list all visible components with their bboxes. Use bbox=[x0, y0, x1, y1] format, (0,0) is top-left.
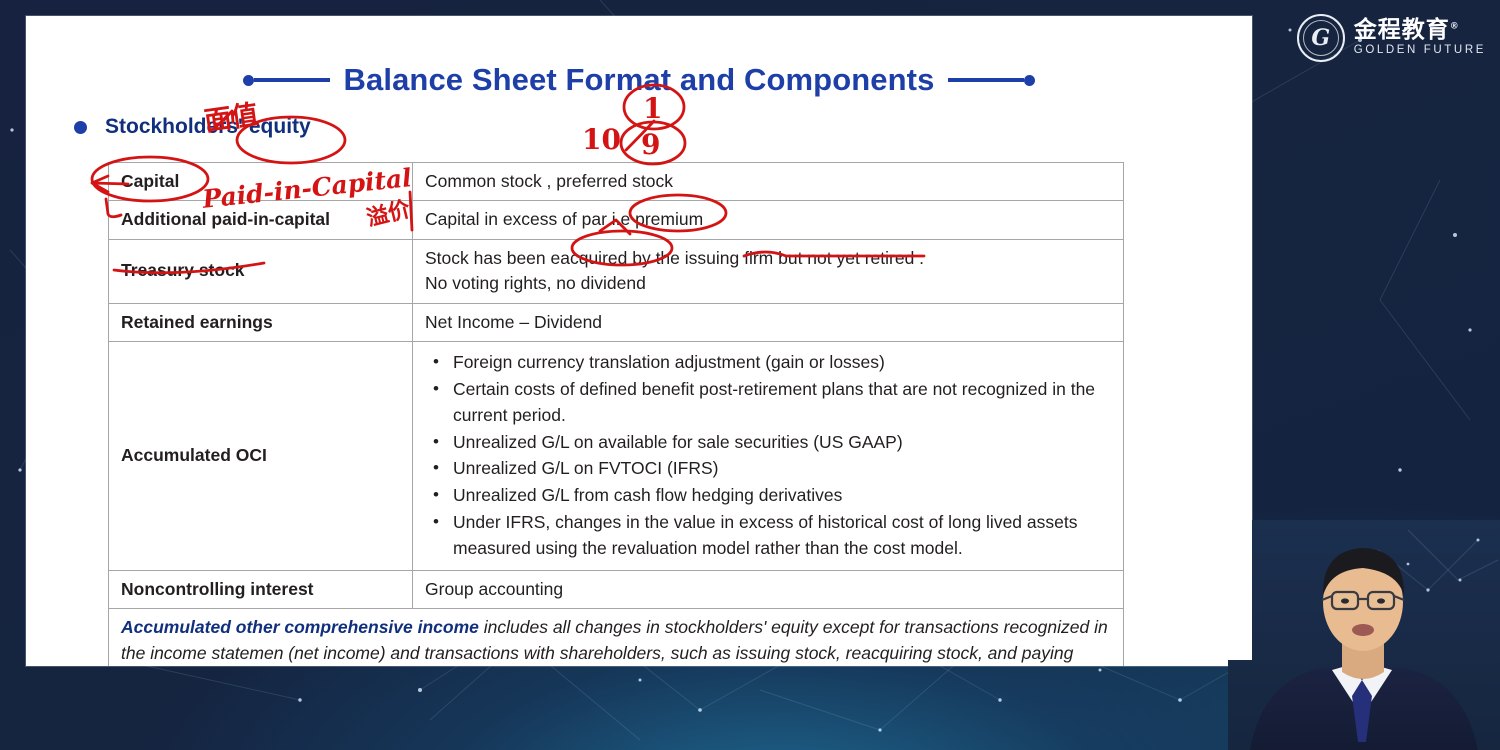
table-row: Accumulated other comprehensive income i… bbox=[109, 609, 1124, 666]
title-rule-right bbox=[948, 75, 1035, 86]
row-label-capital: Capital bbox=[109, 163, 413, 201]
table-row: Accumulated OCI Foreign currency transla… bbox=[109, 341, 1124, 570]
row-label-noncontrolling-interest: Noncontrolling interest bbox=[109, 571, 413, 609]
table-row: Treasury stock Stock has been eacquired … bbox=[109, 239, 1124, 303]
section-heading-label: Stockholders' equity bbox=[105, 115, 311, 139]
title-dot-left-icon bbox=[243, 75, 254, 86]
logo-name-en: GOLDEN FUTURE bbox=[1354, 42, 1486, 58]
table-row: Retained earnings Net Income – Dividend bbox=[109, 303, 1124, 341]
registered-mark-icon: ® bbox=[1450, 21, 1460, 31]
list-item: Foreign currency translation adjustment … bbox=[425, 350, 1111, 376]
list-item: Under IFRS, changes in the value in exce… bbox=[425, 510, 1111, 562]
row-value-additional-paid-in-capital: Capital in excess of par i.e premium bbox=[413, 201, 1124, 239]
row-value-treasury-stock: Stock has been eacquired by the issuing … bbox=[413, 239, 1124, 303]
presentation-slide: Balance Sheet Format and Components Stoc… bbox=[26, 16, 1252, 666]
logo-seal-icon: G bbox=[1297, 14, 1345, 62]
row-label-retained-earnings: Retained earnings bbox=[109, 303, 413, 341]
logo-name-cn: 金程教育® bbox=[1354, 18, 1486, 42]
section-heading: Stockholders' equity bbox=[74, 115, 311, 139]
slide-title-row: Balance Sheet Format and Components bbox=[26, 62, 1252, 98]
presenter-portrait bbox=[1228, 520, 1500, 750]
treasury-line-2: No voting rights, no dividend bbox=[425, 271, 1111, 296]
list-item: Certain costs of defined benefit post-re… bbox=[425, 377, 1111, 429]
ink-circle-number-9 bbox=[621, 122, 685, 164]
presenter-video-overlay bbox=[1228, 520, 1500, 750]
title-rule-left bbox=[243, 75, 330, 86]
list-item: Unrealized G/L from cash flow hedging de… bbox=[425, 483, 1111, 509]
ink-fraction-slash bbox=[626, 121, 654, 150]
row-value-accumulated-oci: Foreign currency translation adjustment … bbox=[413, 341, 1124, 570]
table-row: Capital Common stock , preferred stock bbox=[109, 163, 1124, 201]
list-item: Unrealized G/L on FVTOCI (IFRS) bbox=[425, 456, 1111, 482]
footnote-highlight: Accumulated other comprehensive income bbox=[121, 617, 479, 637]
stockholders-equity-table: Capital Common stock , preferred stock A… bbox=[108, 162, 1124, 666]
row-label-treasury-stock: Treasury stock bbox=[109, 239, 413, 303]
title-bar-left-icon bbox=[254, 78, 330, 82]
title-dot-right-icon bbox=[1024, 75, 1035, 86]
oci-bullet-list: Foreign currency translation adjustment … bbox=[425, 350, 1111, 562]
row-value-noncontrolling-interest: Group accounting bbox=[413, 571, 1124, 609]
bullet-dot-icon bbox=[74, 121, 87, 134]
annotation-number-10: 10 bbox=[582, 123, 621, 156]
row-label-additional-paid-in-capital: Additional paid-in-capital bbox=[109, 201, 413, 239]
table-footnote: Accumulated other comprehensive income i… bbox=[109, 609, 1124, 666]
row-value-retained-earnings: Net Income – Dividend bbox=[413, 303, 1124, 341]
row-value-capital: Common stock , preferred stock bbox=[413, 163, 1124, 201]
page-title: Balance Sheet Format and Components bbox=[344, 62, 935, 98]
table-row: Additional paid-in-capital Capital in ex… bbox=[109, 201, 1124, 239]
treasury-line-1: Stock has been eacquired by the issuing … bbox=[425, 246, 1111, 271]
annotation-number-9: 9 bbox=[641, 128, 660, 161]
brand-logo: G 金程教育® GOLDEN FUTURE bbox=[1297, 14, 1486, 62]
table-row: Noncontrolling interest Group accounting bbox=[109, 571, 1124, 609]
list-item: Unrealized G/L on available for sale sec… bbox=[425, 430, 1111, 456]
logo-seal-letter: G bbox=[1311, 25, 1330, 51]
logo-text-block: 金程教育® GOLDEN FUTURE bbox=[1354, 18, 1486, 58]
title-bar-right-icon bbox=[948, 78, 1024, 82]
row-label-accumulated-oci: Accumulated OCI bbox=[109, 341, 413, 570]
